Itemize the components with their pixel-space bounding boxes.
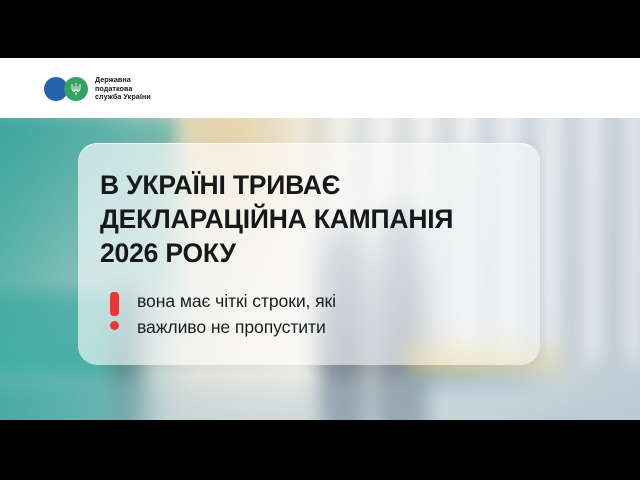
letterbox-bottom bbox=[0, 420, 640, 480]
letterbox-top bbox=[0, 0, 640, 58]
organization-logo: Державна податкова служба України bbox=[44, 76, 151, 102]
logo-marks bbox=[44, 77, 88, 101]
logo-green-circle-icon bbox=[64, 77, 88, 101]
callout-line-1: вона має чіткі строки, які bbox=[137, 288, 336, 314]
page-title: В УКРАЇНІ ТРИВАЄ ДЕКЛАРАЦІЙНА КАМПАНІЯ 2… bbox=[100, 168, 530, 270]
exclamation-bar bbox=[110, 292, 119, 316]
headline-line-1: В УКРАЇНІ ТРИВАЄ bbox=[100, 168, 530, 202]
callout-line-2: важливо не пропустити bbox=[137, 314, 336, 340]
headline-line-2: ДЕКЛАРАЦІЙНА КАМПАНІЯ bbox=[100, 202, 530, 236]
callout-block: вона має чіткі строки, які важливо не пр… bbox=[108, 288, 528, 340]
exclamation-mark-icon bbox=[108, 288, 120, 330]
video-frame: В УКРАЇНІ ТРИВАЄ ДЕКЛАРАЦІЙНА КАМПАНІЯ 2… bbox=[0, 0, 640, 480]
trident-icon bbox=[70, 82, 82, 96]
logo-text: Державна податкова служба України bbox=[95, 76, 151, 102]
logo-text-line-3: служба України bbox=[95, 93, 151, 102]
background-floor-teal bbox=[0, 384, 162, 420]
callout-text: вона має чіткі строки, які важливо не пр… bbox=[137, 288, 336, 340]
headline-line-3: 2026 РОКУ bbox=[100, 236, 530, 270]
exclamation-dot bbox=[110, 321, 119, 330]
